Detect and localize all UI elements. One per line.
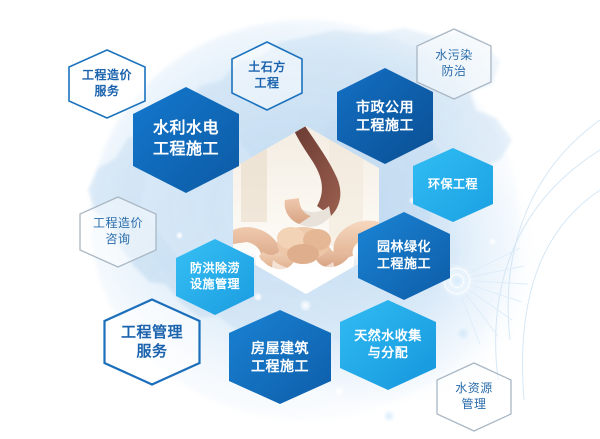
hexagon-label: 工程管理 服务 bbox=[121, 323, 183, 362]
hexagon-label: 水资源 管理 bbox=[455, 381, 493, 412]
hexagon-engineering-cost-consulting[interactable]: 工程造价 咨询 bbox=[79, 196, 157, 268]
hexagon-earthwork-engineering[interactable]: 土石方 工程 bbox=[231, 41, 303, 111]
hexagon-label: 水利水电 工程施工 bbox=[153, 119, 219, 161]
infographic-canvas: 工程造价 服务 土石方 工程 水污染 防治 水利水电 工程施工 bbox=[0, 0, 600, 439]
hexagon-environmental-protection-engineering[interactable]: 环保工程 bbox=[413, 148, 493, 222]
hexagon-water-conservancy-hydropower-construction[interactable]: 水利水电 工程施工 bbox=[133, 87, 239, 193]
network-node-core bbox=[450, 274, 464, 288]
hexagon-building-construction-engineering[interactable]: 房屋建筑 工程施工 bbox=[229, 310, 331, 404]
hexagon-label: 园林绿化 工程施工 bbox=[377, 239, 431, 273]
hexagon-water-resources-management[interactable]: 水资源 管理 bbox=[436, 362, 512, 432]
hexagon-engineering-management-service[interactable]: 工程管理 服务 bbox=[103, 298, 201, 386]
hexagon-label: 水污染 防治 bbox=[435, 48, 473, 79]
hexagon-label: 环保工程 bbox=[428, 177, 478, 193]
hexagon-label: 天然水收集 与分配 bbox=[354, 328, 422, 362]
hexagon-label: 房屋建筑 工程施工 bbox=[251, 339, 309, 375]
hexagon-label: 工程造价 咨询 bbox=[93, 216, 143, 247]
hexagon-natural-water-collection-distribution[interactable]: 天然水收集 与分配 bbox=[340, 300, 436, 390]
hexagon-label: 土石方 工程 bbox=[248, 60, 286, 91]
hexagon-label: 市政公用 工程施工 bbox=[356, 98, 414, 134]
hexagon-landscaping-engineering-construction[interactable]: 园林绿化 工程施工 bbox=[358, 212, 450, 300]
hexagon-label: 防洪除涝 设施管理 bbox=[190, 261, 240, 292]
hexagon-label: 工程造价 服务 bbox=[82, 68, 132, 99]
